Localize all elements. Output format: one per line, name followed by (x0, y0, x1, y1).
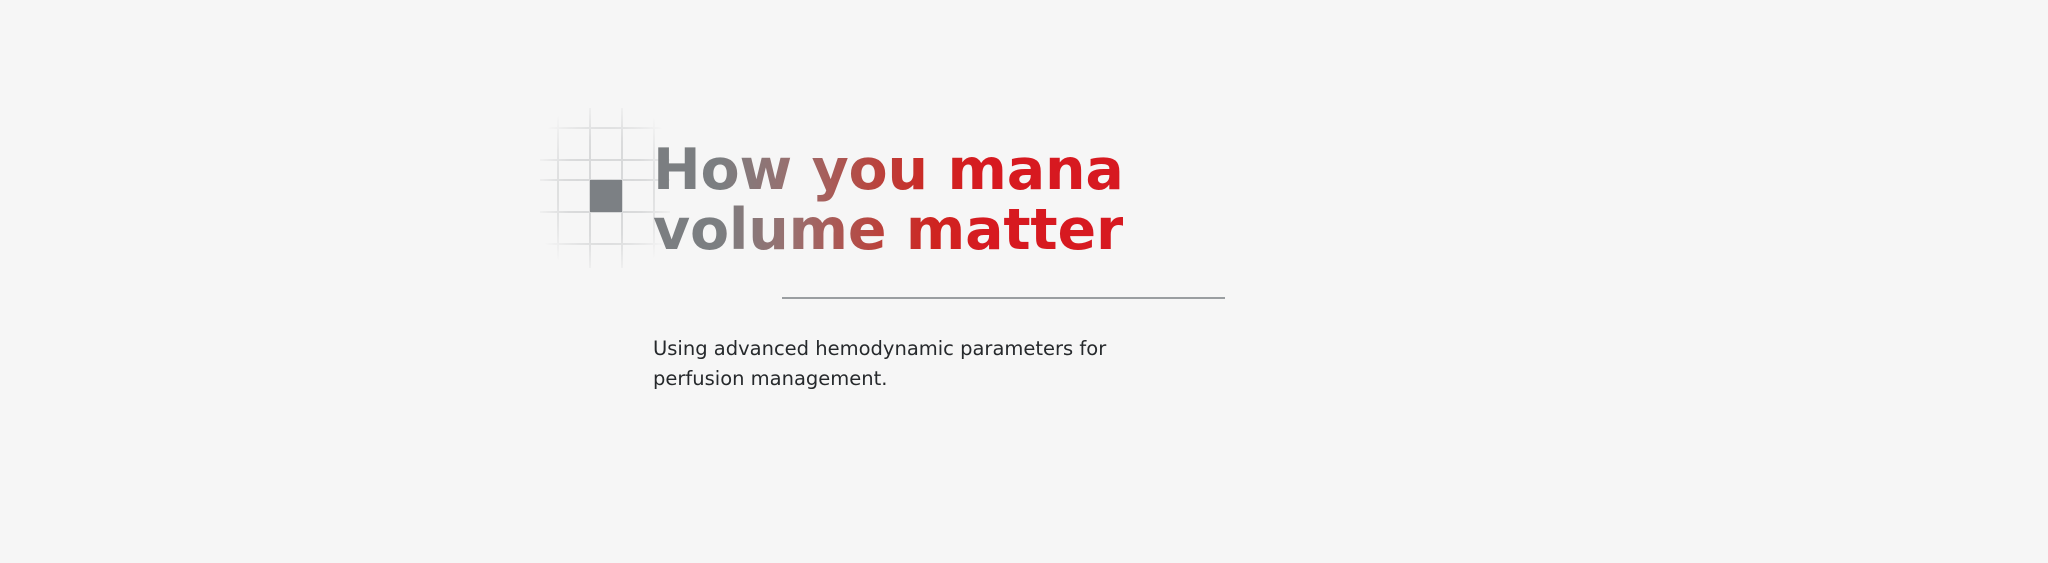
grid-accent-square (590, 180, 622, 212)
page-subtitle-line-2: perfusion management. (653, 364, 1123, 394)
page-subtitle: Using advanced hemodynamic parameters fo… (653, 307, 1123, 394)
page-title-line-2: volume matters (653, 200, 1123, 260)
text-content-block: How you manage volume matters Using adva… (653, 140, 1353, 394)
title-divider (782, 297, 1225, 299)
page-title-line-1: How you manage (653, 140, 1123, 200)
page-subtitle-line-1: Using advanced hemodynamic parameters fo… (653, 334, 1123, 364)
slide-canvas: How you manage volume matters Using adva… (0, 0, 2048, 563)
grid-decoration-svg (540, 108, 670, 268)
grid-decoration (540, 108, 670, 268)
grid-horizontal-lines (540, 128, 670, 244)
grid-lines-group (540, 108, 670, 268)
page-title: How you manage volume matters (653, 140, 1123, 260)
grid-vertical-lines (558, 108, 654, 268)
